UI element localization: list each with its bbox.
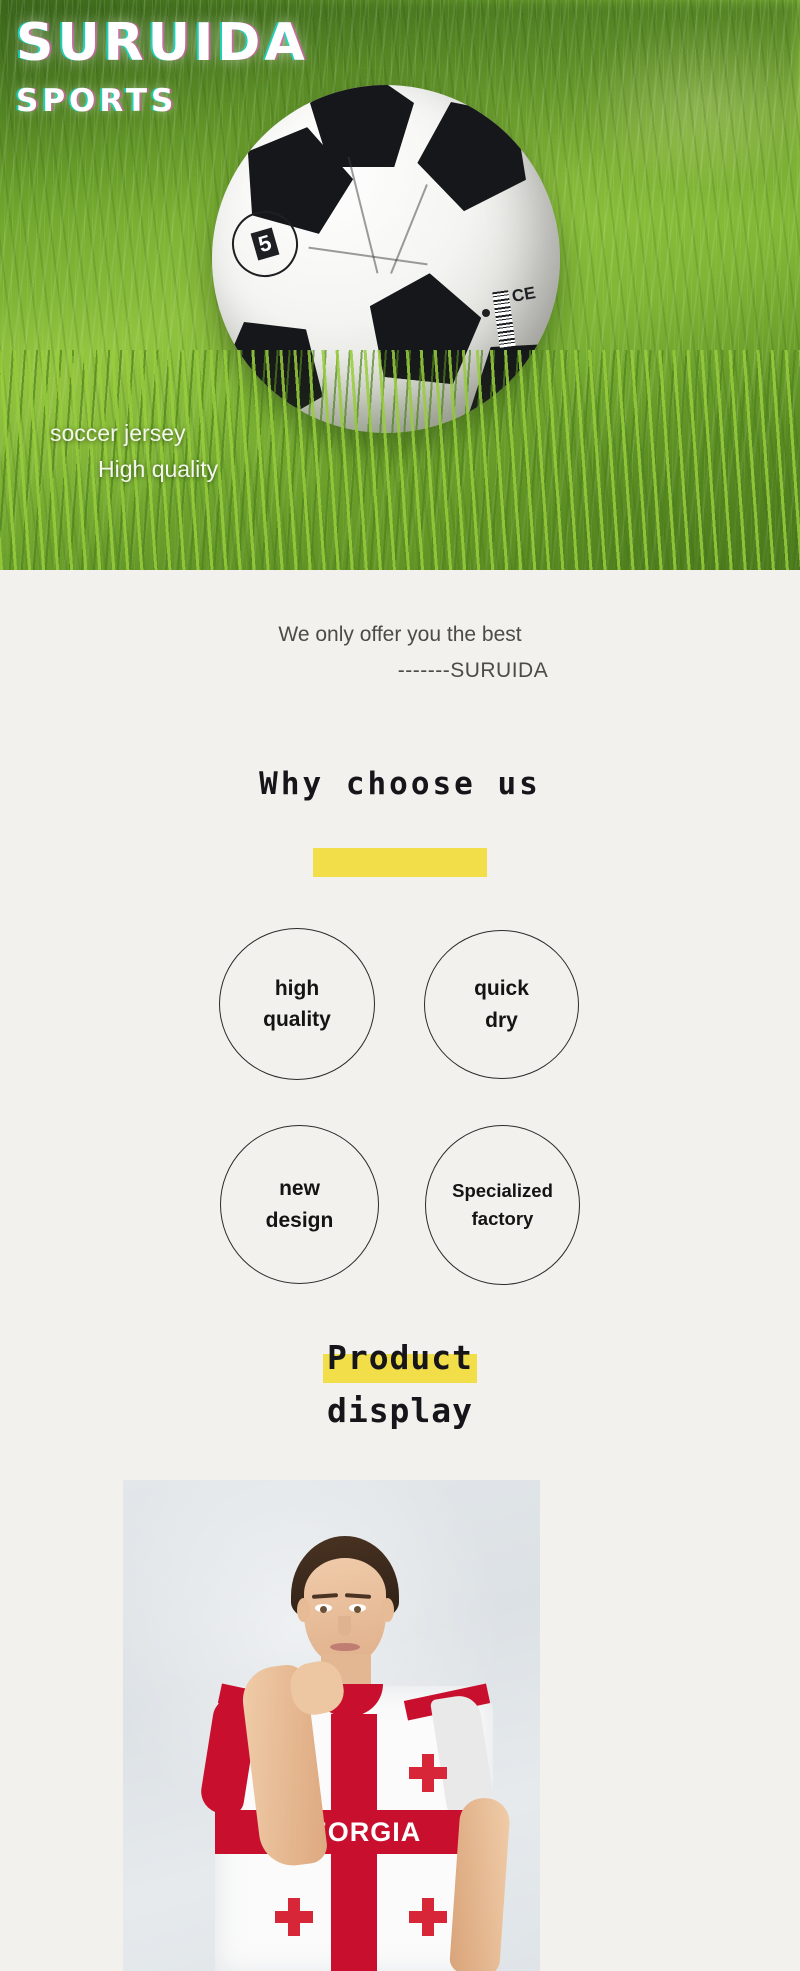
feature-label-line2: factory <box>472 1205 534 1233</box>
ball-ce-mark: CE <box>511 283 538 307</box>
feature-circle-high-quality[interactable]: high quality <box>219 928 375 1080</box>
why-choose-us-underline <box>313 848 487 877</box>
hero-caption-line2: High quality <box>50 452 218 488</box>
product-photo[interactable]: GEORGIA <box>123 1480 540 1971</box>
ball-size-value: 5 <box>250 227 279 260</box>
tagline-block: We only offer you the best -------SURUID… <box>0 620 800 687</box>
feature-label-line2: quality <box>263 1004 331 1036</box>
jersey-bolnisi-cross-top-right <box>409 1754 447 1792</box>
product-title-line2: display <box>0 1391 800 1430</box>
landing-page: 5 CE SURUIDA SPORTS soccer jersey High q… <box>0 0 800 1971</box>
feature-circle-new-design[interactable]: new design <box>220 1125 379 1284</box>
model-ear-left <box>297 1598 310 1622</box>
features-row-1: high quality quick dry <box>0 928 800 1125</box>
features-row-2: new design Specialized factory <box>0 1125 800 1322</box>
hero-caption: soccer jersey High quality <box>50 416 218 487</box>
feature-label-line1: quick <box>474 973 529 1005</box>
hero-banner: 5 CE SURUIDA SPORTS soccer jersey High q… <box>0 0 800 570</box>
feature-circle-quick-dry[interactable]: quick dry <box>424 930 579 1079</box>
ball-valve-icon <box>482 309 490 317</box>
model-pupil-right <box>354 1606 361 1613</box>
product-display-title: Product display <box>0 1338 800 1430</box>
feature-label-line1: new <box>279 1173 320 1205</box>
feature-label-line1: high <box>275 973 319 1005</box>
jersey-bolnisi-cross-bottom-left <box>275 1898 313 1936</box>
model-nose <box>338 1616 351 1636</box>
tagline-line1: We only offer you the best <box>278 623 521 646</box>
model-ear-right <box>381 1598 394 1622</box>
why-choose-us-title: Why choose us <box>0 766 800 802</box>
brand-logo-sub: SPORTS <box>16 83 309 119</box>
feature-circle-specialized-factory[interactable]: Specialized factory <box>425 1125 580 1285</box>
product-title-line1-wrap: Product <box>323 1338 477 1377</box>
product-title-line1: Product <box>327 1338 473 1377</box>
feature-label-line2: design <box>266 1205 334 1237</box>
hero-caption-line1: soccer jersey <box>50 416 218 452</box>
model-mouth <box>330 1643 360 1651</box>
brand-logo: SURUIDA SPORTS <box>16 16 309 119</box>
model-pupil-left <box>320 1606 327 1613</box>
tagline-signature: -------SURUIDA <box>0 656 800 686</box>
brand-logo-main: SURUIDA <box>16 16 309 71</box>
features-circle-grid: high quality quick dry new design Specia… <box>0 928 800 1322</box>
feature-label-line2: dry <box>485 1005 518 1037</box>
jersey-bolnisi-cross-bottom-right <box>409 1898 447 1936</box>
feature-label-line1: Specialized <box>452 1177 553 1205</box>
